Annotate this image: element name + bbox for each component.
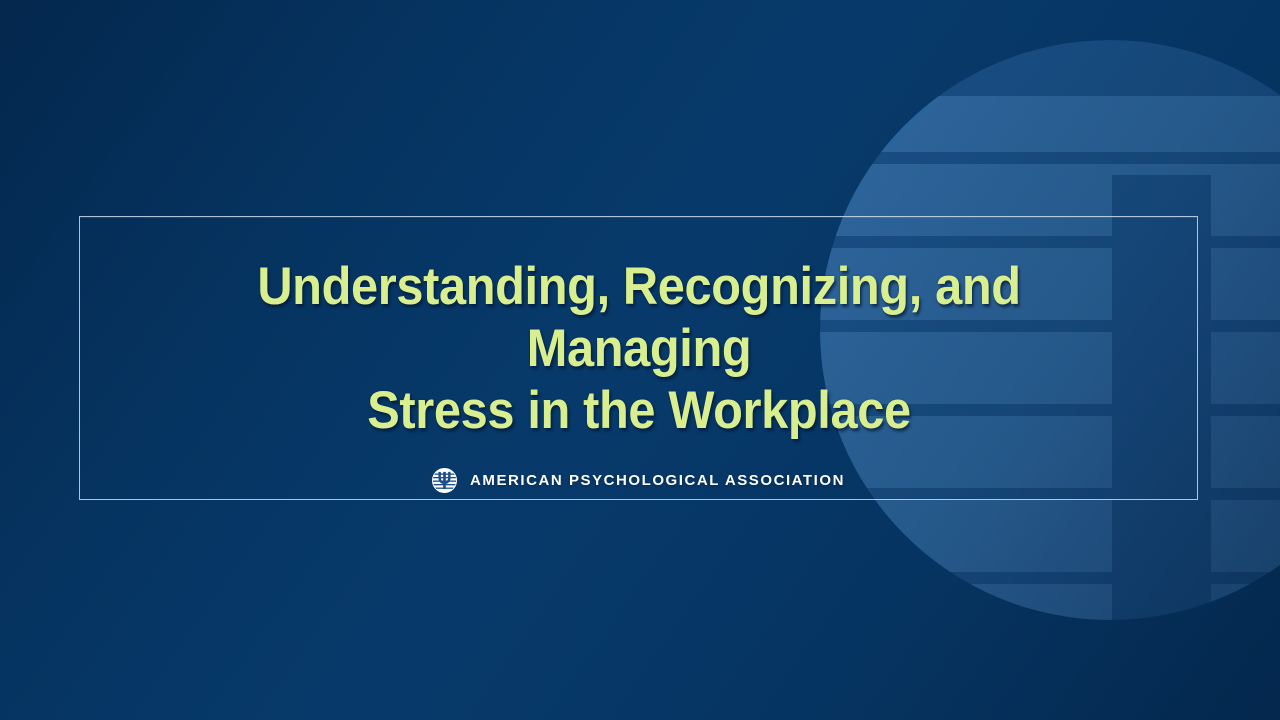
- organization-lockup: AMERICAN PSYCHOLOGICAL ASSOCIATION: [432, 468, 845, 493]
- title-slide: Understanding, Recognizing, and Managing…: [0, 0, 1280, 720]
- title-content-block: Understanding, Recognizing, and Managing…: [79, 216, 1198, 500]
- organization-name: AMERICAN PSYCHOLOGICAL ASSOCIATION: [470, 472, 845, 489]
- slide-title: Understanding, Recognizing, and Managing…: [179, 256, 1099, 442]
- apa-psi-logo-icon: [432, 468, 457, 493]
